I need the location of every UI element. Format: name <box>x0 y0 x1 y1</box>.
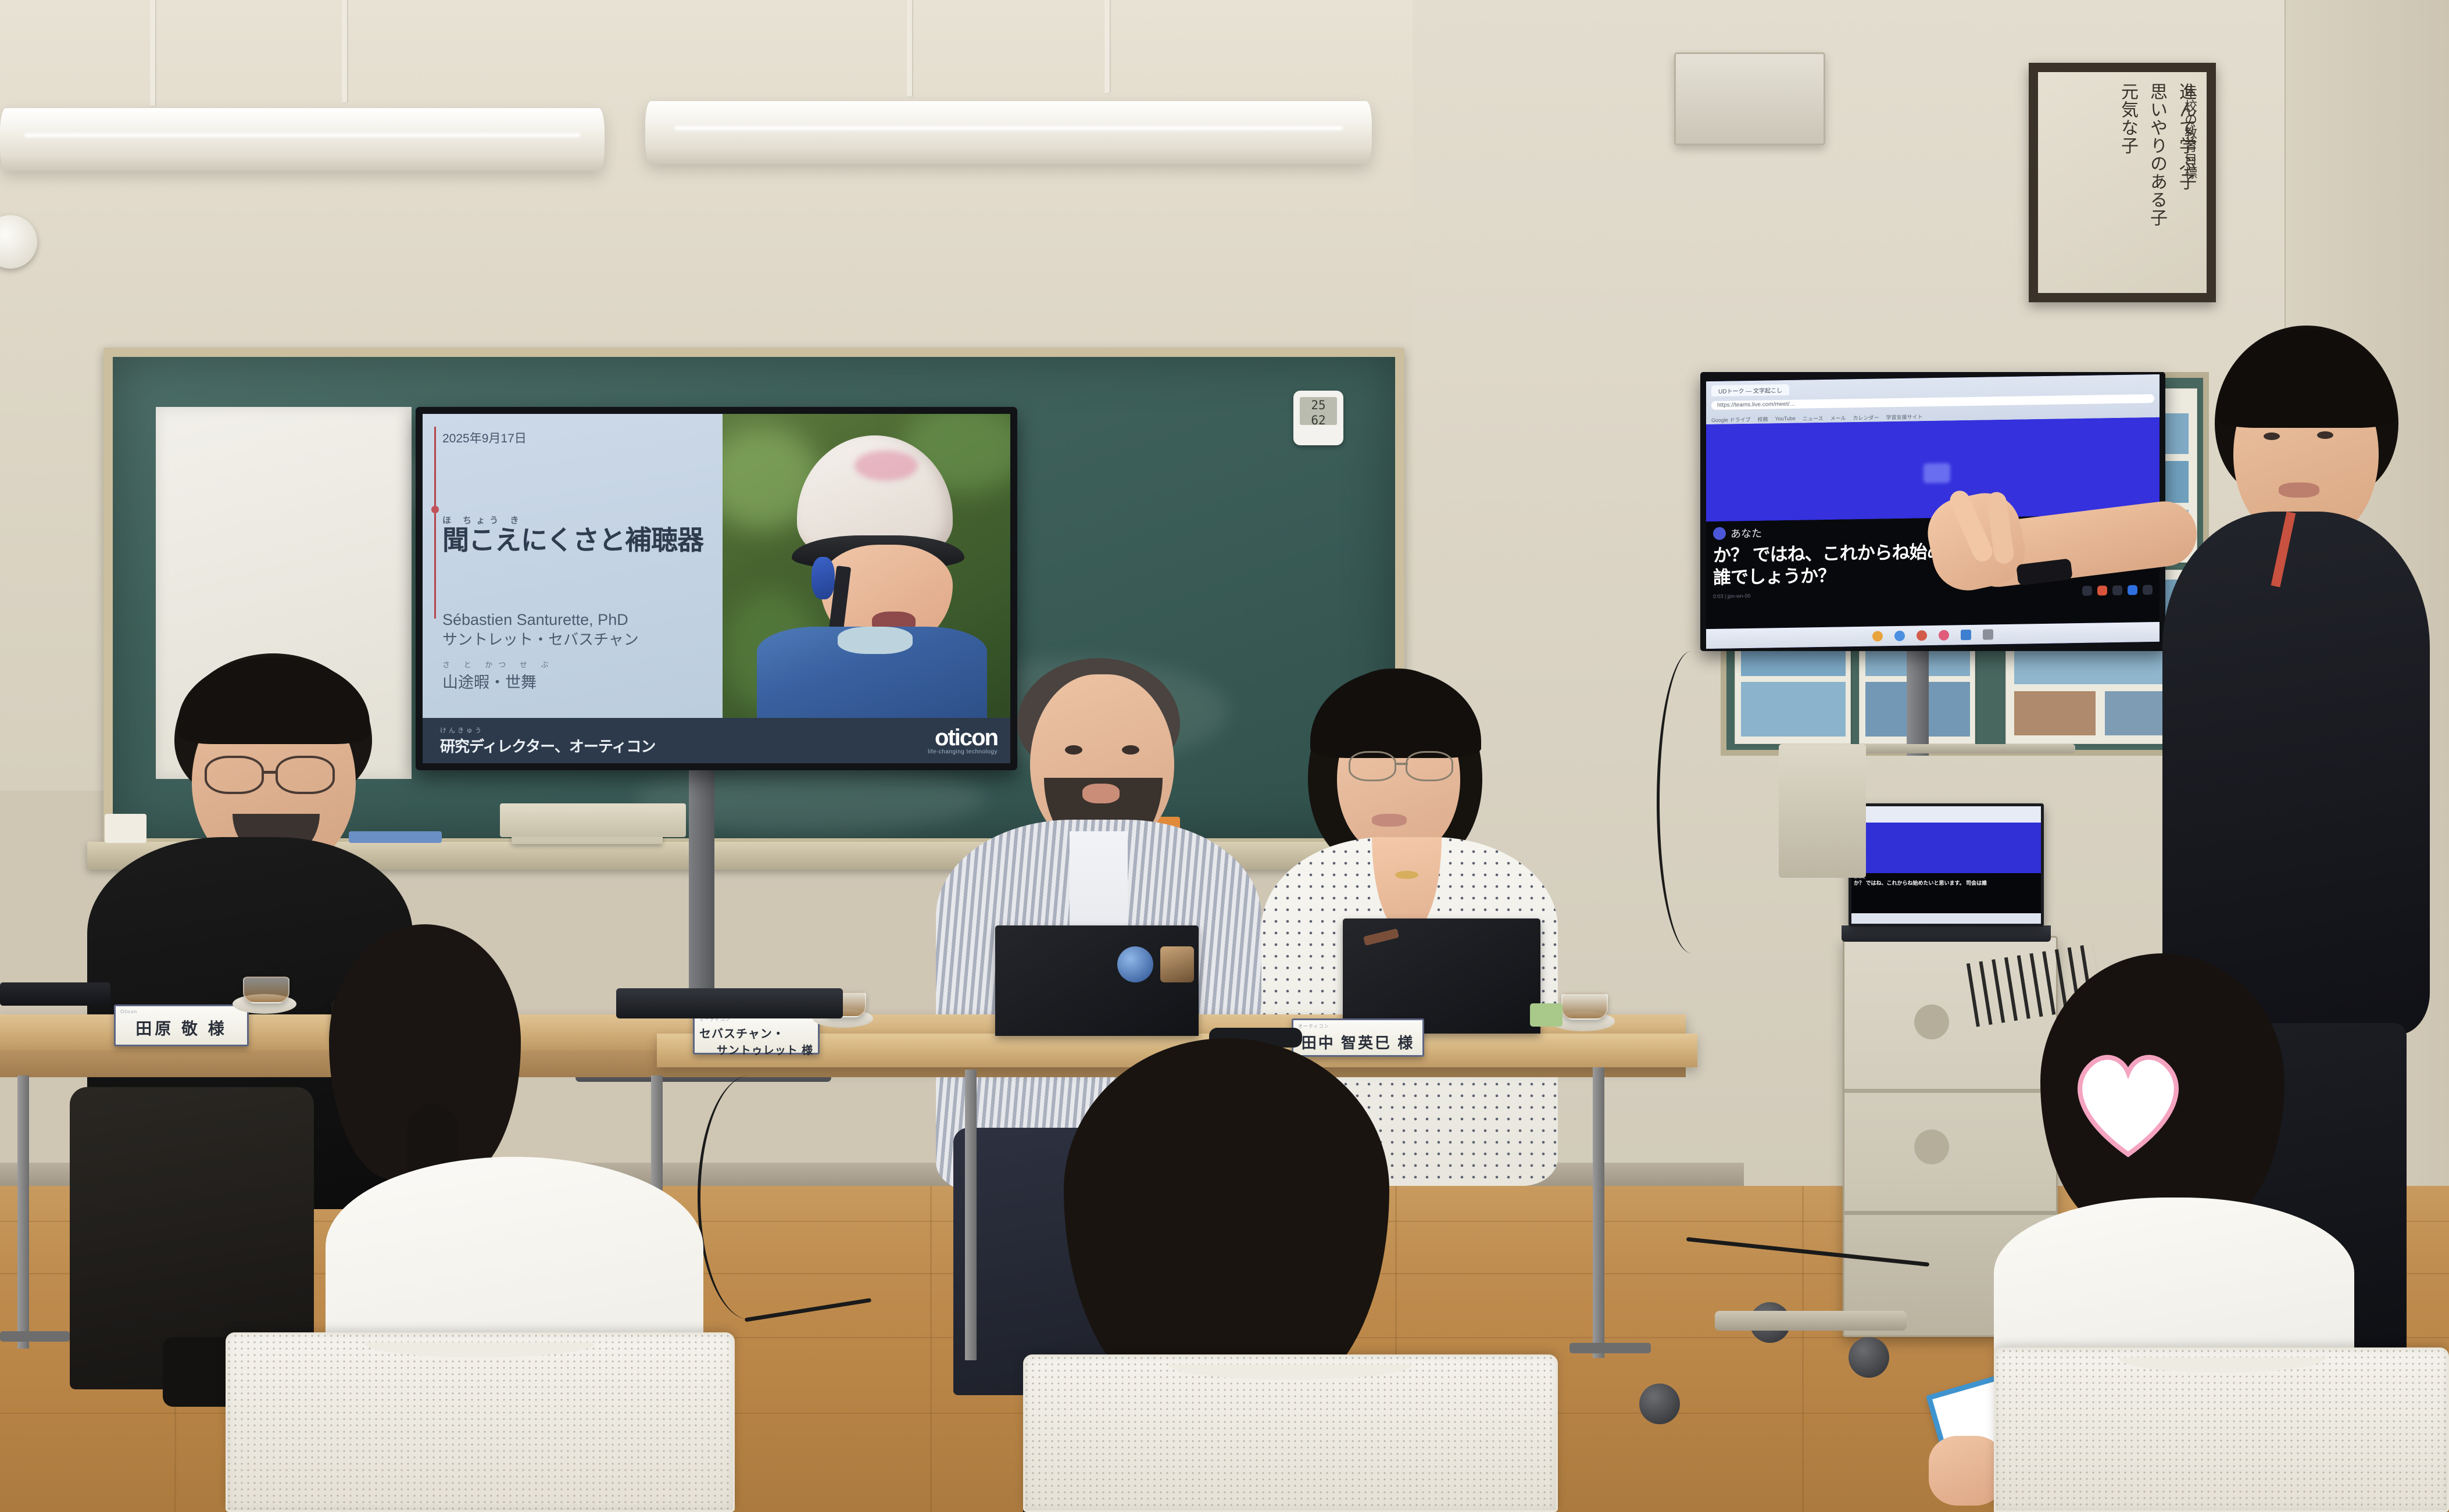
chair-front-right[interactable] <box>1994 1347 2449 1512</box>
floor-cable-left <box>698 1075 802 1320</box>
podium-laptop-browser-bar <box>1851 806 2041 823</box>
presenter-mouth <box>2279 482 2319 498</box>
panelist-right-glasses-bridge <box>1395 763 1408 765</box>
chair-right-handle-notch <box>2118 1357 2325 1372</box>
taskbar-icon-app[interactable] <box>1917 630 1927 641</box>
slide-accent-dot <box>431 506 439 513</box>
laptop-sticker-round <box>1117 946 1153 982</box>
taskbar-icon-media[interactable] <box>1939 630 1949 641</box>
podium-laptop-caption-panel: あなた か？ ではね、これからね始めたいと思います。 司会は誰 <box>1851 873 2041 913</box>
digital-thermometer: 25 62 <box>1293 391 1343 445</box>
nameplate-santurette-line1: セバスチャン・ <box>699 1024 813 1041</box>
bookmark-3[interactable]: ニュース <box>1803 414 1824 422</box>
caption-speaker-name: あなた <box>1731 526 1762 541</box>
presenter-eye-left <box>2264 432 2280 440</box>
helmet-pink-pattern <box>855 451 918 481</box>
toolbar-button-more[interactable] <box>2143 585 2153 595</box>
chair-left-handle-notch <box>364 1342 596 1357</box>
table-leg-3 <box>965 1070 977 1360</box>
title-slide: 2025年9月17日 ほ ちょう き 聞こえにくさと補聴器 Sébastien … <box>423 414 1010 763</box>
slide-date: 2025年9月17日 <box>442 429 712 446</box>
presenter-torso <box>2162 512 2430 1035</box>
podium-laptop-base <box>1842 925 2051 942</box>
caption-status: 0:03 | jpn-wn-00 <box>1713 593 1750 599</box>
panelist-right-glasses-right <box>1406 751 1453 781</box>
child-right-hand <box>1929 1436 2004 1506</box>
blue-pen <box>349 831 442 843</box>
laptop-right-sticker <box>1363 928 1399 946</box>
toolbar-button-record[interactable] <box>2097 585 2107 595</box>
panelist-center-eye-left <box>1065 745 1082 755</box>
bookmark-0[interactable]: Google ドライブ <box>1711 415 1751 423</box>
thermometer-humidity: 62 <box>1300 412 1337 427</box>
slide-affiliation: 山途暇・世舞 <box>442 670 712 692</box>
taskbar-icon-folder[interactable] <box>1983 629 1993 639</box>
speaker-avatar <box>1713 527 1726 540</box>
bookmark-6[interactable]: 学習支援サイト <box>1886 413 1923 421</box>
podium-laptop-screen: あなた か？ ではね、これからね始めたいと思います。 司会は誰 <box>1851 806 2041 924</box>
panelist-right-necklace <box>1395 871 1418 879</box>
av-control-box[interactable] <box>616 988 843 1018</box>
toolbar-button-mic[interactable] <box>2082 586 2092 596</box>
browser-chrome: UDトーク — 文字起こし https://teams.live.com/mee… <box>1706 374 2160 424</box>
toolbar-button-settings[interactable] <box>2112 585 2122 595</box>
slide-footer-role: 研究ディレクター、オーティコン <box>440 735 655 756</box>
podium-laptop-speaker: あなた <box>1854 874 2039 880</box>
nameplate-santurette-line2: サントゥレット 様 <box>699 1042 813 1057</box>
bookmark-1[interactable]: 校務 <box>1758 415 1768 423</box>
cart-caster-far <box>1639 1384 1680 1424</box>
nameplate-tanaka-name: 田中 智英巳 様 <box>1298 1031 1418 1053</box>
caption-video-area <box>1706 417 2160 521</box>
toolbar-button-share[interactable] <box>2128 585 2137 595</box>
slide-title-ruby: ほ ちょう き <box>442 516 712 526</box>
calligraphy-scroll-frame: 本校の教育目標 進んで学ぶ子 思いやりのある子 元気な子 <box>2029 63 2216 302</box>
chalk-box <box>105 814 146 843</box>
ceiling-light-right <box>645 101 1372 164</box>
slide-photo-child-with-hearing-aid <box>723 414 1010 718</box>
scroll-header: 本校の教育目標 <box>2180 83 2198 180</box>
slide-presenter-en: Sébastien Santurette, PhD <box>442 610 712 630</box>
laptop-right[interactable] <box>1343 918 1540 1034</box>
snack-packet <box>1530 1003 1563 1027</box>
cable-organizer <box>1779 744 1866 878</box>
slide-title: 聞こえにくさと補聴器 <box>442 526 712 554</box>
slide-accent-line <box>434 427 436 619</box>
ceiling-light-left <box>0 108 605 171</box>
nameplate-tahara: Oticon 田原 敬 様 <box>114 1005 249 1046</box>
taskbar-icon-teams[interactable] <box>1961 630 1971 640</box>
panelist-center-mouth <box>1082 784 1120 803</box>
thermometer-temp: 25 <box>1300 397 1337 412</box>
panelist-right-mouth <box>1372 814 1407 827</box>
paper-tray <box>500 803 686 837</box>
panelist-right-glasses-left <box>1349 751 1396 781</box>
taskbar-icon-explorer[interactable] <box>1894 631 1905 641</box>
panelist-left-glasses-right <box>276 756 335 794</box>
panelist-left-glasses-bridge <box>263 771 277 774</box>
nameplate-tahara-name: 田原 敬 様 <box>120 1016 242 1039</box>
caption-toolbar[interactable] <box>2082 585 2153 596</box>
child-center-hair <box>1064 1038 1389 1399</box>
hearing-aid-icon <box>811 557 835 599</box>
teacup-right <box>1561 993 1608 1020</box>
tablet-on-table <box>0 982 110 1006</box>
chair-front-left[interactable] <box>226 1332 735 1512</box>
panelist-center-eye-right <box>1122 745 1139 755</box>
nameplate-tahara-logo: Oticon <box>120 1009 242 1014</box>
table-leg-4 <box>1593 1067 1604 1358</box>
podium-laptop-video-area <box>1851 823 2041 873</box>
podium-laptop[interactable]: あなた か？ ではね、これからね始めたいと思います。 司会は誰 <box>1849 803 2044 927</box>
monitor-cable <box>1657 651 1726 953</box>
wall-speaker-unit <box>1674 52 1825 145</box>
oticon-logo: oticon life-changing technology <box>928 727 998 755</box>
bookmark-5[interactable]: カレンダー <box>1853 413 1879 421</box>
nameplate-tanaka-logo: オーティコン <box>1298 1023 1418 1030</box>
oticon-wordmark: oticon <box>928 727 998 749</box>
slide-affiliation-ruby: さ と かつ せ ぶ <box>442 659 712 670</box>
laptop-sticker-square <box>1160 946 1194 982</box>
chair-front-center[interactable] <box>1023 1354 1558 1512</box>
presenter-eye-right <box>2317 431 2333 439</box>
cart-knob-1 <box>1914 1005 1949 1039</box>
bookmark-2[interactable]: YouTube <box>1775 416 1796 422</box>
cart-base-bar <box>1715 1311 1907 1331</box>
monitor-stand <box>1907 651 1929 756</box>
chair-center-handle-notch <box>1168 1364 1413 1379</box>
light-rod-1 <box>150 0 155 106</box>
table-foot-1 <box>0 1331 70 1342</box>
slide-title-block: ほ ちょう き 聞こえにくさと補聴器 <box>442 516 712 554</box>
laptop-center[interactable] <box>995 925 1199 1036</box>
heart-privacy-sticker <box>2067 1049 2189 1159</box>
taskbar-icon-chrome[interactable] <box>1872 631 1883 641</box>
podium-laptop-caption: か？ ではね、これからね始めたいと思います。 司会は誰 <box>1854 880 2039 886</box>
light-rod-3 <box>907 0 912 96</box>
light-rod-4 <box>1104 0 1110 93</box>
classroom-scene: 本校の教育目標 進んで学ぶ子 思いやりのある子 元気な子 25 62 <box>0 0 2449 1512</box>
bookmark-4[interactable]: メール <box>1830 414 1846 421</box>
cart-top-rail <box>1831 744 2075 753</box>
cart-knob-2 <box>1914 1129 1949 1164</box>
cart-caster-center <box>1849 1337 1889 1378</box>
caption-center-logo <box>1924 463 1950 484</box>
scroll-line-2: 思いやりのある子 <box>2144 83 2169 227</box>
slide-text-pane: 2025年9月17日 ほ ちょう き 聞こえにくさと補聴器 Sébastien … <box>423 414 723 718</box>
table-foot-3 <box>1569 1343 1651 1353</box>
nameplate-tanaka: オーティコン 田中 智英巳 様 <box>1292 1018 1424 1057</box>
podium-laptop-taskbar[interactable] <box>1851 913 2041 924</box>
light-rod-2 <box>342 0 347 102</box>
slide-presenter-jp: サントレット・セバスチャン <box>442 630 712 650</box>
teacup-left <box>243 977 289 1003</box>
child-inner-shirt <box>838 627 913 654</box>
panelist-left-glasses-left <box>205 756 264 794</box>
slide-footer: けんきゅう 研究ディレクター、オーティコン oticon life-changi… <box>423 718 1010 763</box>
calligraphy-paper: 本校の教育目標 進んで学ぶ子 思いやりのある子 元気な子 <box>2038 72 2207 293</box>
table-leg-1 <box>17 1075 29 1349</box>
thermometer-lcd: 25 62 <box>1300 397 1337 425</box>
scroll-line-3: 元気な子 <box>2115 83 2140 155</box>
slide-footer-ruby: けんきゅう <box>440 725 655 735</box>
browser-tab[interactable]: UDトーク — 文字起こし <box>1711 384 1789 396</box>
presentation-display: 2025年9月17日 ほ ちょう き 聞こえにくさと補聴器 Sébastien … <box>416 407 1017 770</box>
